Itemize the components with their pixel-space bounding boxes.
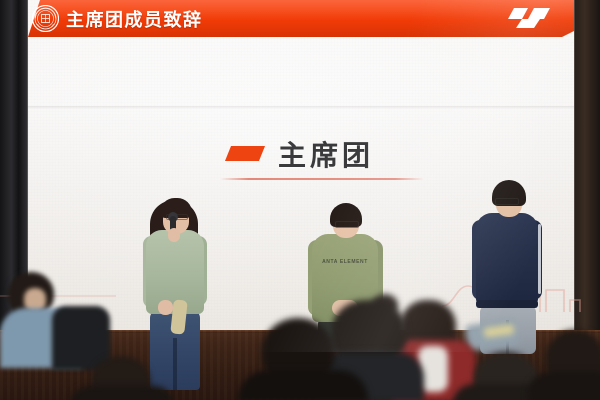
speaker-right-sleeve-stripe-3 (538, 224, 541, 294)
slide-title-block: 主席团 (228, 136, 478, 192)
audience-shoulders (528, 372, 600, 400)
audience-shoulders (238, 370, 368, 400)
auditorium-seat (52, 306, 110, 370)
slide-bullet-mark-icon (225, 146, 265, 161)
banner-title-text: 主席团成员致辞 (66, 6, 203, 32)
photograph-auditorium-ceremony: 主席团 主席团成员致辞 (0, 0, 600, 400)
speaker-center-glasses-icon (335, 221, 359, 228)
university-seal-logo-icon (32, 5, 59, 32)
speaker-left-hand-lower (158, 300, 173, 315)
speaker-left-hand-mic (168, 228, 180, 242)
audience-shoulders (70, 386, 174, 400)
slide-title-text: 主席团 (278, 134, 374, 174)
speaker-right-glasses-icon (495, 198, 519, 205)
speaker-left-leg-seam (173, 338, 177, 390)
slide-title-divider (220, 178, 424, 180)
speaker-center-shirt-text: ANTA ELEMENT (321, 258, 369, 267)
speaker-right-sweatshirt (476, 213, 538, 305)
speaker-right-waistband (476, 300, 538, 308)
chevron-parallelogram-mark-icon (500, 6, 562, 30)
